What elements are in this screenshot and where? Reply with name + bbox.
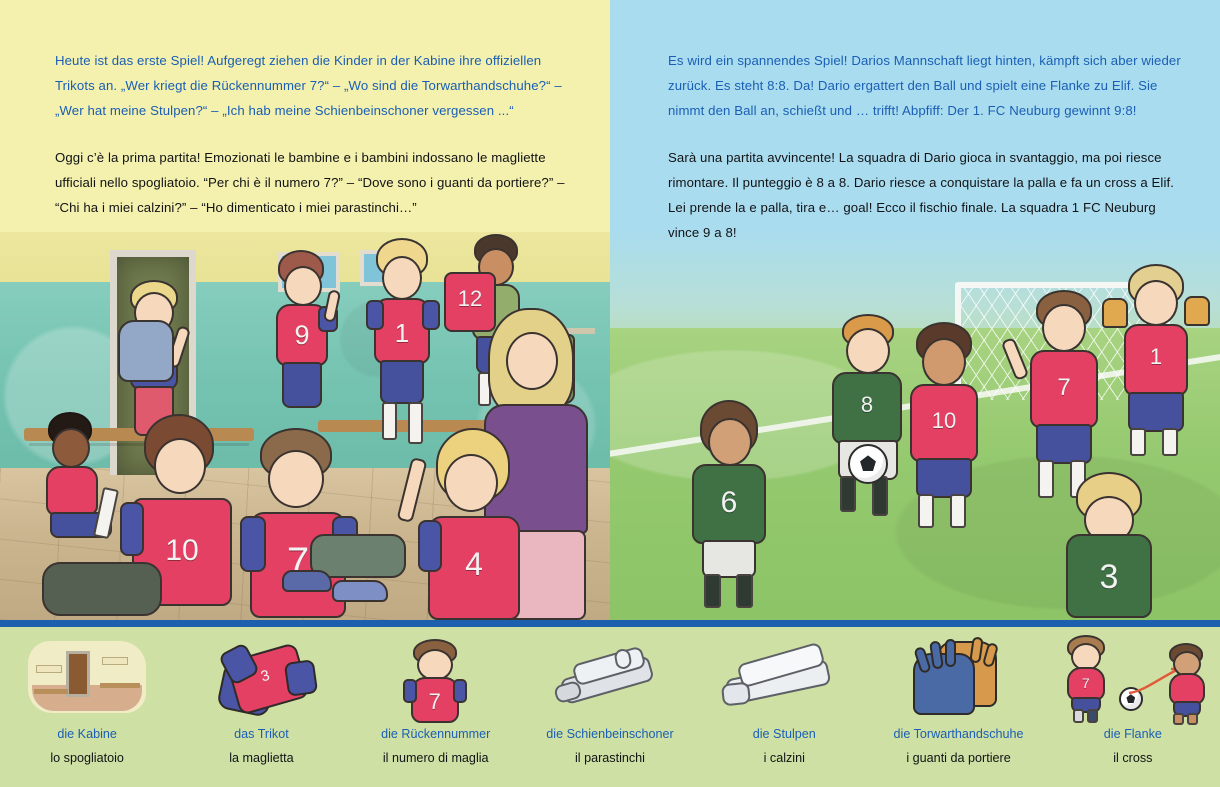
sock <box>736 574 753 608</box>
vocab-it-label: lo spogliatoio <box>50 751 124 766</box>
goalkeeper-glove-icon <box>1102 298 1128 328</box>
vocab-de-label: die Stulpen <box>753 727 816 742</box>
child-jersey-1: 1 <box>366 238 448 450</box>
vocab-item-trikot[interactable]: 3 das Trikot la maglietta <box>174 627 348 787</box>
head <box>922 338 966 386</box>
jersey-number: 8 <box>834 392 900 418</box>
torso: 10 <box>910 384 978 462</box>
left-text-block: Heute ist das erste Spiel! Aufgeregt zie… <box>55 48 575 220</box>
sock <box>1162 428 1178 456</box>
raised-arm <box>323 289 341 323</box>
jersey-icon: 3 <box>174 633 348 725</box>
passing-player: 7 <box>1059 635 1111 723</box>
head <box>52 428 90 468</box>
jersey-number: 6 <box>694 486 764 520</box>
head <box>284 266 322 306</box>
football <box>848 444 888 484</box>
vocab-it-label: i calzini <box>764 751 805 766</box>
goalkeeper-jersey-1: 1 <box>1106 264 1212 464</box>
player-jersey-10: 10 <box>900 322 1000 534</box>
torso: 1 <box>1124 324 1188 396</box>
cross-pass-icon: 7 <box>1046 633 1220 725</box>
vocab-de-label: die Rückennummer <box>381 727 490 742</box>
child-jersey-9: 9 <box>272 250 344 420</box>
head <box>506 332 558 390</box>
torso: 6 <box>692 464 766 544</box>
sock <box>918 494 934 528</box>
legs <box>1036 424 1092 464</box>
vocab-de-label: die Kabine <box>57 727 117 742</box>
left-italian-paragraph: Oggi c’è la prima partita! Emozionati le… <box>55 145 575 220</box>
shin-guards-icon <box>523 633 697 725</box>
vocabulary-bar: die Kabine lo spogliatoio 3 das Trikot <box>0 627 1220 787</box>
torso: 8 <box>832 372 902 444</box>
vocab-de-label: die Schienbeinschoner <box>546 727 673 742</box>
player-jersey-3: 3 <box>1052 472 1172 620</box>
jersey-number: 7 <box>1032 374 1096 402</box>
jersey-number: 1 <box>1126 344 1186 370</box>
vocab-item-torwarthandschuhe[interactable]: die Torwarthandschuhe i guanti da portie… <box>871 627 1045 787</box>
sock <box>1130 428 1146 456</box>
jersey-number: 10 <box>912 408 976 434</box>
head <box>1134 280 1178 326</box>
torso <box>46 466 98 516</box>
vocab-it-label: il cross <box>1113 751 1152 766</box>
legs <box>916 458 972 498</box>
player-jersey-6: 6 <box>682 400 782 616</box>
shoe <box>282 570 332 592</box>
vocab-it-label: il numero di maglia <box>383 751 489 766</box>
book-spread-page: 9 1 <box>0 0 1220 787</box>
torso: 3 <box>1066 534 1152 618</box>
vocab-item-flanke[interactable]: 7 <box>1046 627 1220 787</box>
vocab-it-label: i guanti da portiere <box>906 751 1010 766</box>
backpack <box>118 320 174 382</box>
head <box>708 418 752 466</box>
vocab-de-label: die Torwarthandschuhe <box>894 727 1024 742</box>
jersey-number: 4 <box>430 546 518 583</box>
receiving-player <box>1161 643 1211 727</box>
legs <box>702 540 756 578</box>
sock <box>840 476 856 512</box>
head <box>154 438 206 494</box>
torso: 7 <box>1030 350 1098 428</box>
vocab-item-kabine[interactable]: die Kabine lo spogliatoio <box>0 627 174 787</box>
blue-divider <box>0 620 1220 627</box>
vocab-it-label: la maglietta <box>229 751 293 766</box>
vocab-item-schienbeinschoner[interactable]: die Schienbeinschoner il parastinchi <box>523 627 697 787</box>
sock <box>704 574 721 608</box>
vocab-de-label: das Trikot <box>234 727 289 742</box>
vocab-de-label: die Flanke <box>1104 727 1162 742</box>
head <box>846 328 890 374</box>
locker-room-illustration: 9 1 <box>0 232 610 620</box>
locker-room-icon <box>0 633 174 725</box>
legs <box>1128 392 1184 432</box>
legs <box>282 362 322 408</box>
vocab-item-stulpen[interactable]: die Stulpen i calzini <box>697 627 871 787</box>
right-german-paragraph: Es wird ein spannendes Spiel! Darios Man… <box>668 48 1188 123</box>
goalie-gloves-icon <box>871 633 1045 725</box>
goalkeeper-glove-icon <box>1184 296 1210 326</box>
vocabulary-row: die Kabine lo spogliatoio 3 das Trikot <box>0 627 1220 787</box>
clothes-pile <box>42 562 162 616</box>
shoe <box>332 580 388 602</box>
head <box>382 256 422 300</box>
head <box>1042 304 1086 352</box>
child-jersey-4: 4 <box>420 428 540 620</box>
right-text-block: Es wird ein spannendes Spiel! Darios Man… <box>668 48 1188 245</box>
legs <box>380 360 424 404</box>
head <box>268 450 324 508</box>
football-pitch-illustration: 6 8 <box>610 232 1220 620</box>
shirt-number-icon: 7 <box>349 633 523 725</box>
jersey-number: 3 <box>1068 558 1150 597</box>
illustration-spread: 9 1 <box>0 0 1220 620</box>
left-german-paragraph: Heute ist das erste Spiel! Aufgeregt zie… <box>55 48 575 123</box>
vocab-it-label: il parastinchi <box>575 751 645 766</box>
right-italian-paragraph: Sarà una partita avvincente! La squadra … <box>668 145 1188 245</box>
vocab-item-rueckennummer[interactable]: 7 die Rückennummer il numero di maglia <box>349 627 523 787</box>
head <box>444 454 498 512</box>
sock <box>950 494 966 528</box>
football-socks-icon <box>697 633 871 725</box>
sock <box>382 402 397 440</box>
